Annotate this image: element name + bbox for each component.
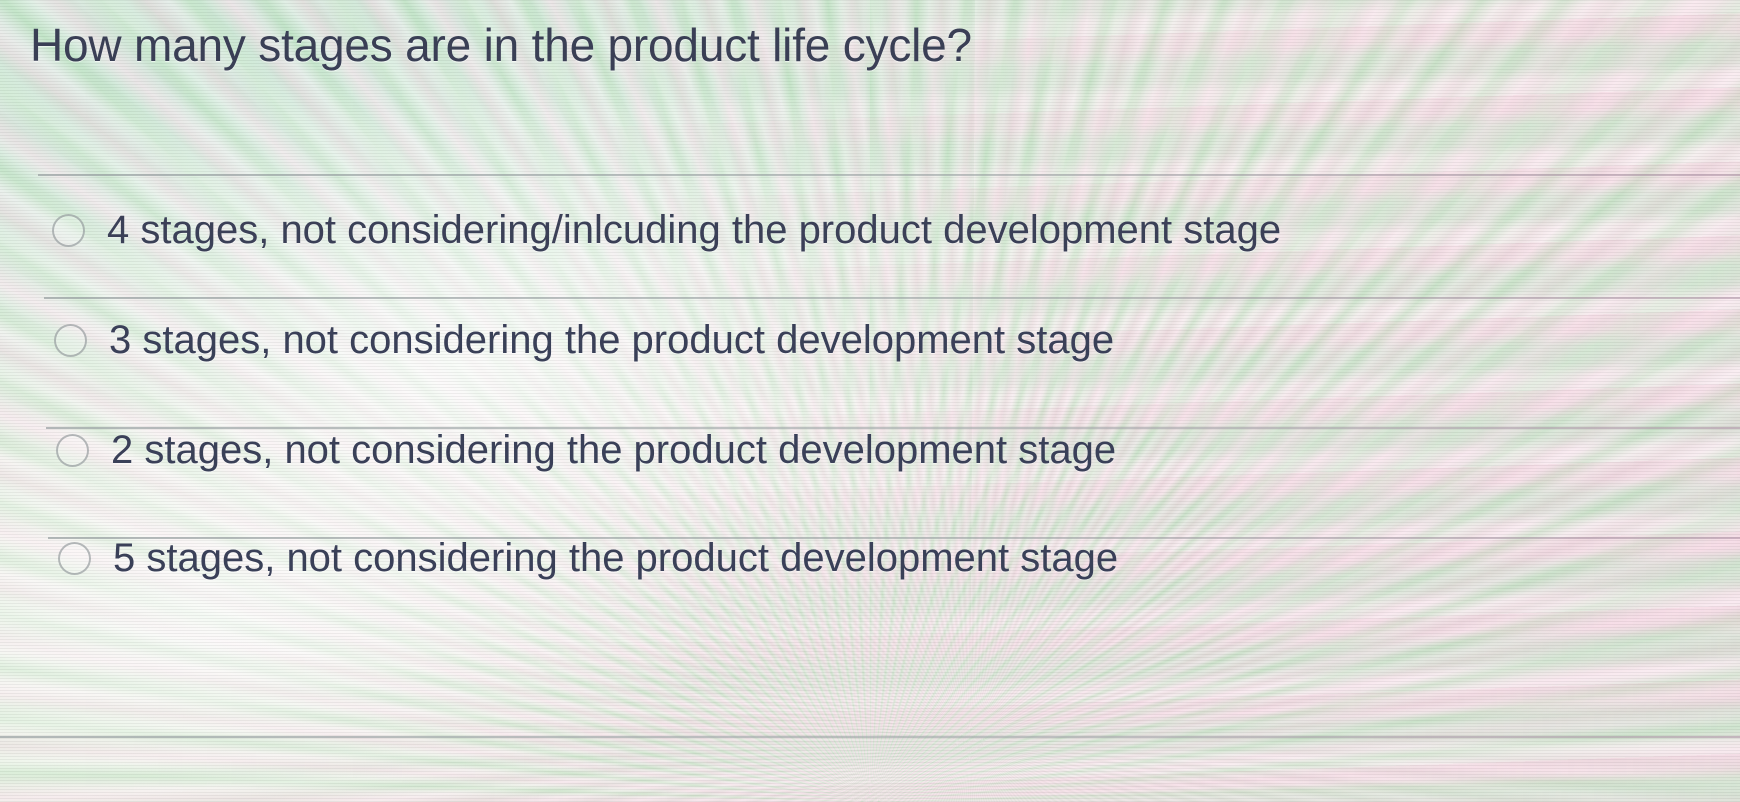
divider-below-options	[0, 736, 1740, 738]
option-label-2: 3 stages, not considering the product de…	[109, 318, 1114, 362]
radio-unselected-icon[interactable]	[58, 542, 91, 575]
page-title: How many stages are in the product life …	[30, 18, 972, 72]
option-row-4[interactable]: 5 stages, not considering the product de…	[58, 528, 1118, 588]
option-label-3: 2 stages, not considering the product de…	[111, 428, 1116, 472]
radio-unselected-icon[interactable]	[52, 214, 85, 247]
radio-unselected-icon[interactable]	[54, 324, 87, 357]
option-label-1: 4 stages, not considering/inlcuding the …	[107, 208, 1281, 252]
option-row-3[interactable]: 2 stages, not considering the product de…	[56, 420, 1116, 480]
radio-unselected-icon[interactable]	[56, 434, 89, 467]
divider-above-option-1	[38, 174, 1740, 176]
option-row-2[interactable]: 3 stages, not considering the product de…	[54, 310, 1114, 370]
option-label-4: 5 stages, not considering the product de…	[113, 536, 1118, 580]
divider-above-option-2	[44, 297, 1740, 299]
option-row-1[interactable]: 4 stages, not considering/inlcuding the …	[52, 200, 1281, 260]
quiz-question-panel: How many stages are in the product life …	[0, 0, 1740, 802]
